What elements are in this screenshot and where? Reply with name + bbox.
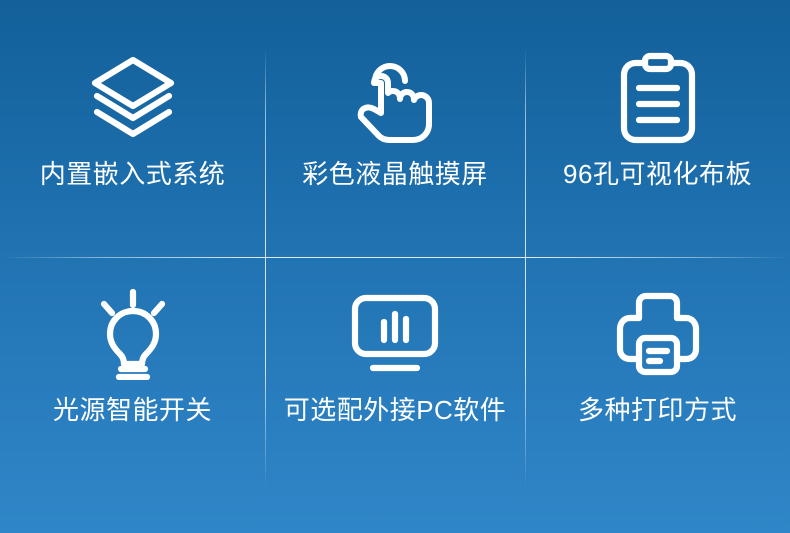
feature-board: 内置嵌入式系统 彩色液晶触摸屏 [0,0,790,533]
feature-label: 可选配外接PC软件 [284,396,507,426]
feature-cell-well-plate[interactable]: 96孔可视化布板 [525,0,790,257]
feature-label: 96孔可视化布板 [563,160,752,190]
feature-cell-embedded-system[interactable]: 内置嵌入式系统 [0,0,265,257]
feature-grid: 内置嵌入式系统 彩色液晶触摸屏 [0,0,790,533]
clipboard-icon [608,50,708,146]
feature-cell-pc-software[interactable]: 可选配外接PC软件 [265,257,525,533]
feature-cell-printing[interactable]: 多种打印方式 [525,257,790,533]
feature-cell-light-source[interactable]: 光源智能开关 [0,257,265,533]
feature-label: 内置嵌入式系统 [40,160,226,190]
lightbulb-icon [83,286,183,382]
feature-label: 光源智能开关 [53,396,212,426]
touch-hand-icon [345,50,445,146]
printer-icon [608,286,708,382]
feature-cell-touchscreen[interactable]: 彩色液晶触摸屏 [265,0,525,257]
layers-stack-icon [83,50,183,146]
monitor-chart-icon [345,286,445,382]
feature-label: 彩色液晶触摸屏 [302,160,488,190]
feature-label: 多种打印方式 [578,396,737,426]
